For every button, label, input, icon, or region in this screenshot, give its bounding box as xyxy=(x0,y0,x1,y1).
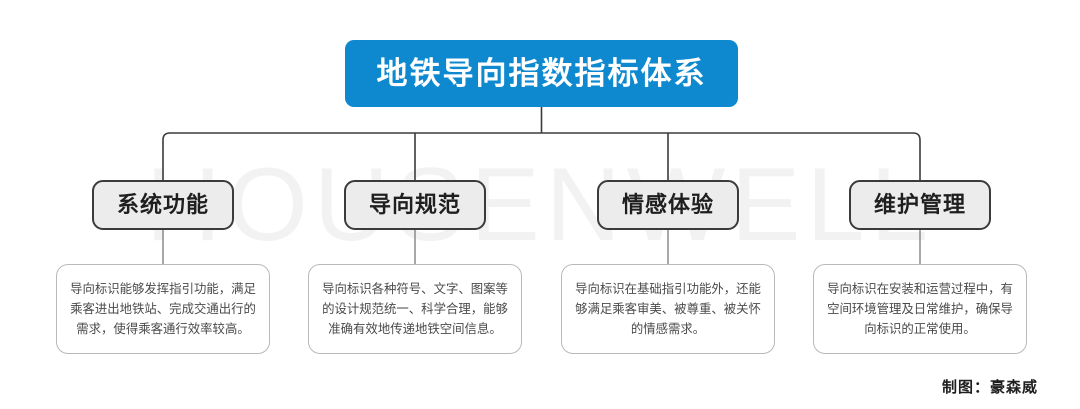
description-node-maintenance-management: 导向标识在安装和运营过程中，有空间环境管理及日常维护，确保导向标识的正常使用。 xyxy=(813,264,1027,354)
description-text: 导向标识在基础指引功能外，还能够满足乘客审美、被尊重、被关怀的情感需求。 xyxy=(572,279,764,339)
diagram-canvas: HOUSENWELL 地铁导向指数指标体系 系统功能 导向规范 情感体验 维护管… xyxy=(0,0,1080,409)
category-label: 系统功能 xyxy=(117,194,209,216)
category-node-emotional-experience[interactable]: 情感体验 xyxy=(597,180,739,230)
description-node-emotional-experience: 导向标识在基础指引功能外，还能够满足乘客审美、被尊重、被关怀的情感需求。 xyxy=(561,264,775,354)
root-node[interactable]: 地铁导向指数指标体系 xyxy=(345,40,738,107)
credit-label: 制图：豪森威 xyxy=(942,376,1038,397)
category-label: 导向规范 xyxy=(369,194,461,216)
description-text: 导向标识能够发挥指引功能，满足乘客进出地铁站、完成交通出行的需求，使得乘客通行效… xyxy=(67,279,259,339)
connector-bus xyxy=(163,133,920,180)
description-node-guidance-standard: 导向标识各种符号、文字、图案等的设计规范统一、科学合理，能够准确有效地传递地铁空… xyxy=(308,264,522,354)
category-label: 维护管理 xyxy=(874,194,966,216)
description-text: 导向标识各种符号、文字、图案等的设计规范统一、科学合理，能够准确有效地传递地铁空… xyxy=(319,279,511,339)
category-node-system-function[interactable]: 系统功能 xyxy=(92,180,234,230)
description-text: 导向标识在安装和运营过程中，有空间环境管理及日常维护，确保导向标识的正常使用。 xyxy=(824,279,1016,339)
root-node-label: 地铁导向指数指标体系 xyxy=(377,58,707,89)
category-label: 情感体验 xyxy=(622,194,714,216)
category-node-maintenance-management[interactable]: 维护管理 xyxy=(849,180,991,230)
category-node-guidance-standard[interactable]: 导向规范 xyxy=(344,180,486,230)
description-node-system-function: 导向标识能够发挥指引功能，满足乘客进出地铁站、完成交通出行的需求，使得乘客通行效… xyxy=(56,264,270,354)
